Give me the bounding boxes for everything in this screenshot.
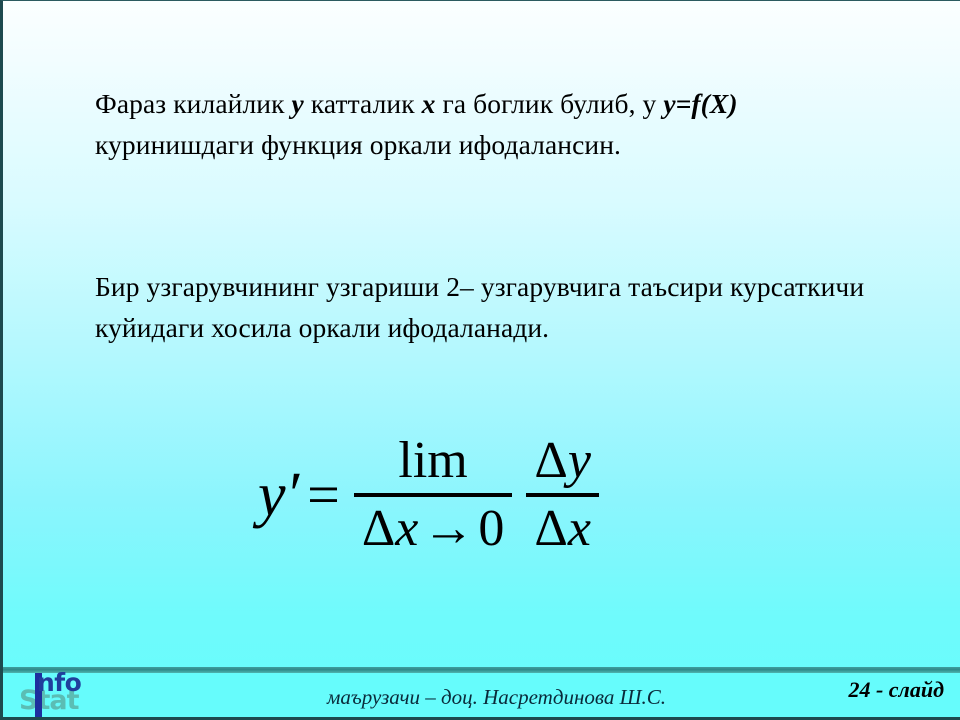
formula-ratio-numerator-variable: y <box>568 432 591 489</box>
formula-ratio-numerator-delta-icon: Δ <box>534 432 567 489</box>
formula-limit-denominator-value: 0 <box>478 500 504 557</box>
formula-ratio-numerator: Δy <box>526 433 599 489</box>
formula-limit-fraction-bar <box>354 493 513 497</box>
formula-ratio-fraction-bar <box>526 493 599 497</box>
formula-lhs-variable: y <box>258 461 286 529</box>
presenter-credit: маърузачи – доц. Насретдинова Ш.С. <box>3 685 960 710</box>
slide-footer: Stat nfo маърузачи – доц. Насретдинова Ш… <box>3 673 960 717</box>
paragraph-1: Фараз килайлик y катталик x га боглик бу… <box>95 83 885 165</box>
formula-lhs: y′ <box>258 464 305 526</box>
formula-limit-numerator: lim <box>390 433 475 489</box>
formula-limit-denominator-variable: x <box>395 500 418 557</box>
slide-number-label: 24 - слайд <box>848 677 944 703</box>
formula-ratio-denominator-variable: x <box>568 500 591 557</box>
paragraph-2: Бир узгарувчининг узгариши 2– узгарувчиг… <box>95 266 885 348</box>
derivative-formula: y′ = lim Δx→0 Δy Δx <box>258 433 603 557</box>
formula-ratio-denominator-delta-icon: Δ <box>534 500 567 557</box>
paragraph-1-segment-2: катталик <box>304 88 422 119</box>
formula-limit-denominator: Δx→0 <box>354 501 513 557</box>
formula-limit-delta-icon: Δ <box>362 500 395 557</box>
slide-canvas: Фараз килайлик y катталик x га боглик бу… <box>0 0 960 720</box>
paragraph-1-emphasis-x: x <box>422 88 436 119</box>
formula-ratio-fraction: Δy Δx <box>526 433 599 557</box>
formula-limit-fraction: lim Δx→0 <box>354 433 513 557</box>
paragraph-1-emphasis-y: y <box>292 88 304 119</box>
formula-ratio-denominator: Δx <box>526 501 599 557</box>
formula-equals-sign: = <box>305 466 350 524</box>
paragraph-1-segment-1: Фараз килайлик <box>95 88 292 119</box>
paragraph-2-text: Бир узгарувчининг узгариши 2– узгарувчиг… <box>95 271 864 343</box>
paragraph-1-segment-4: куринишдаги функция оркали ифодалансин. <box>95 129 621 160</box>
paragraph-1-segment-3: га боглик булиб, у <box>436 88 664 119</box>
right-arrow-icon: → <box>418 500 478 557</box>
paragraph-1-emphasis-function: y=f(X) <box>663 88 737 119</box>
formula-prime-symbol: ′ <box>286 461 300 529</box>
